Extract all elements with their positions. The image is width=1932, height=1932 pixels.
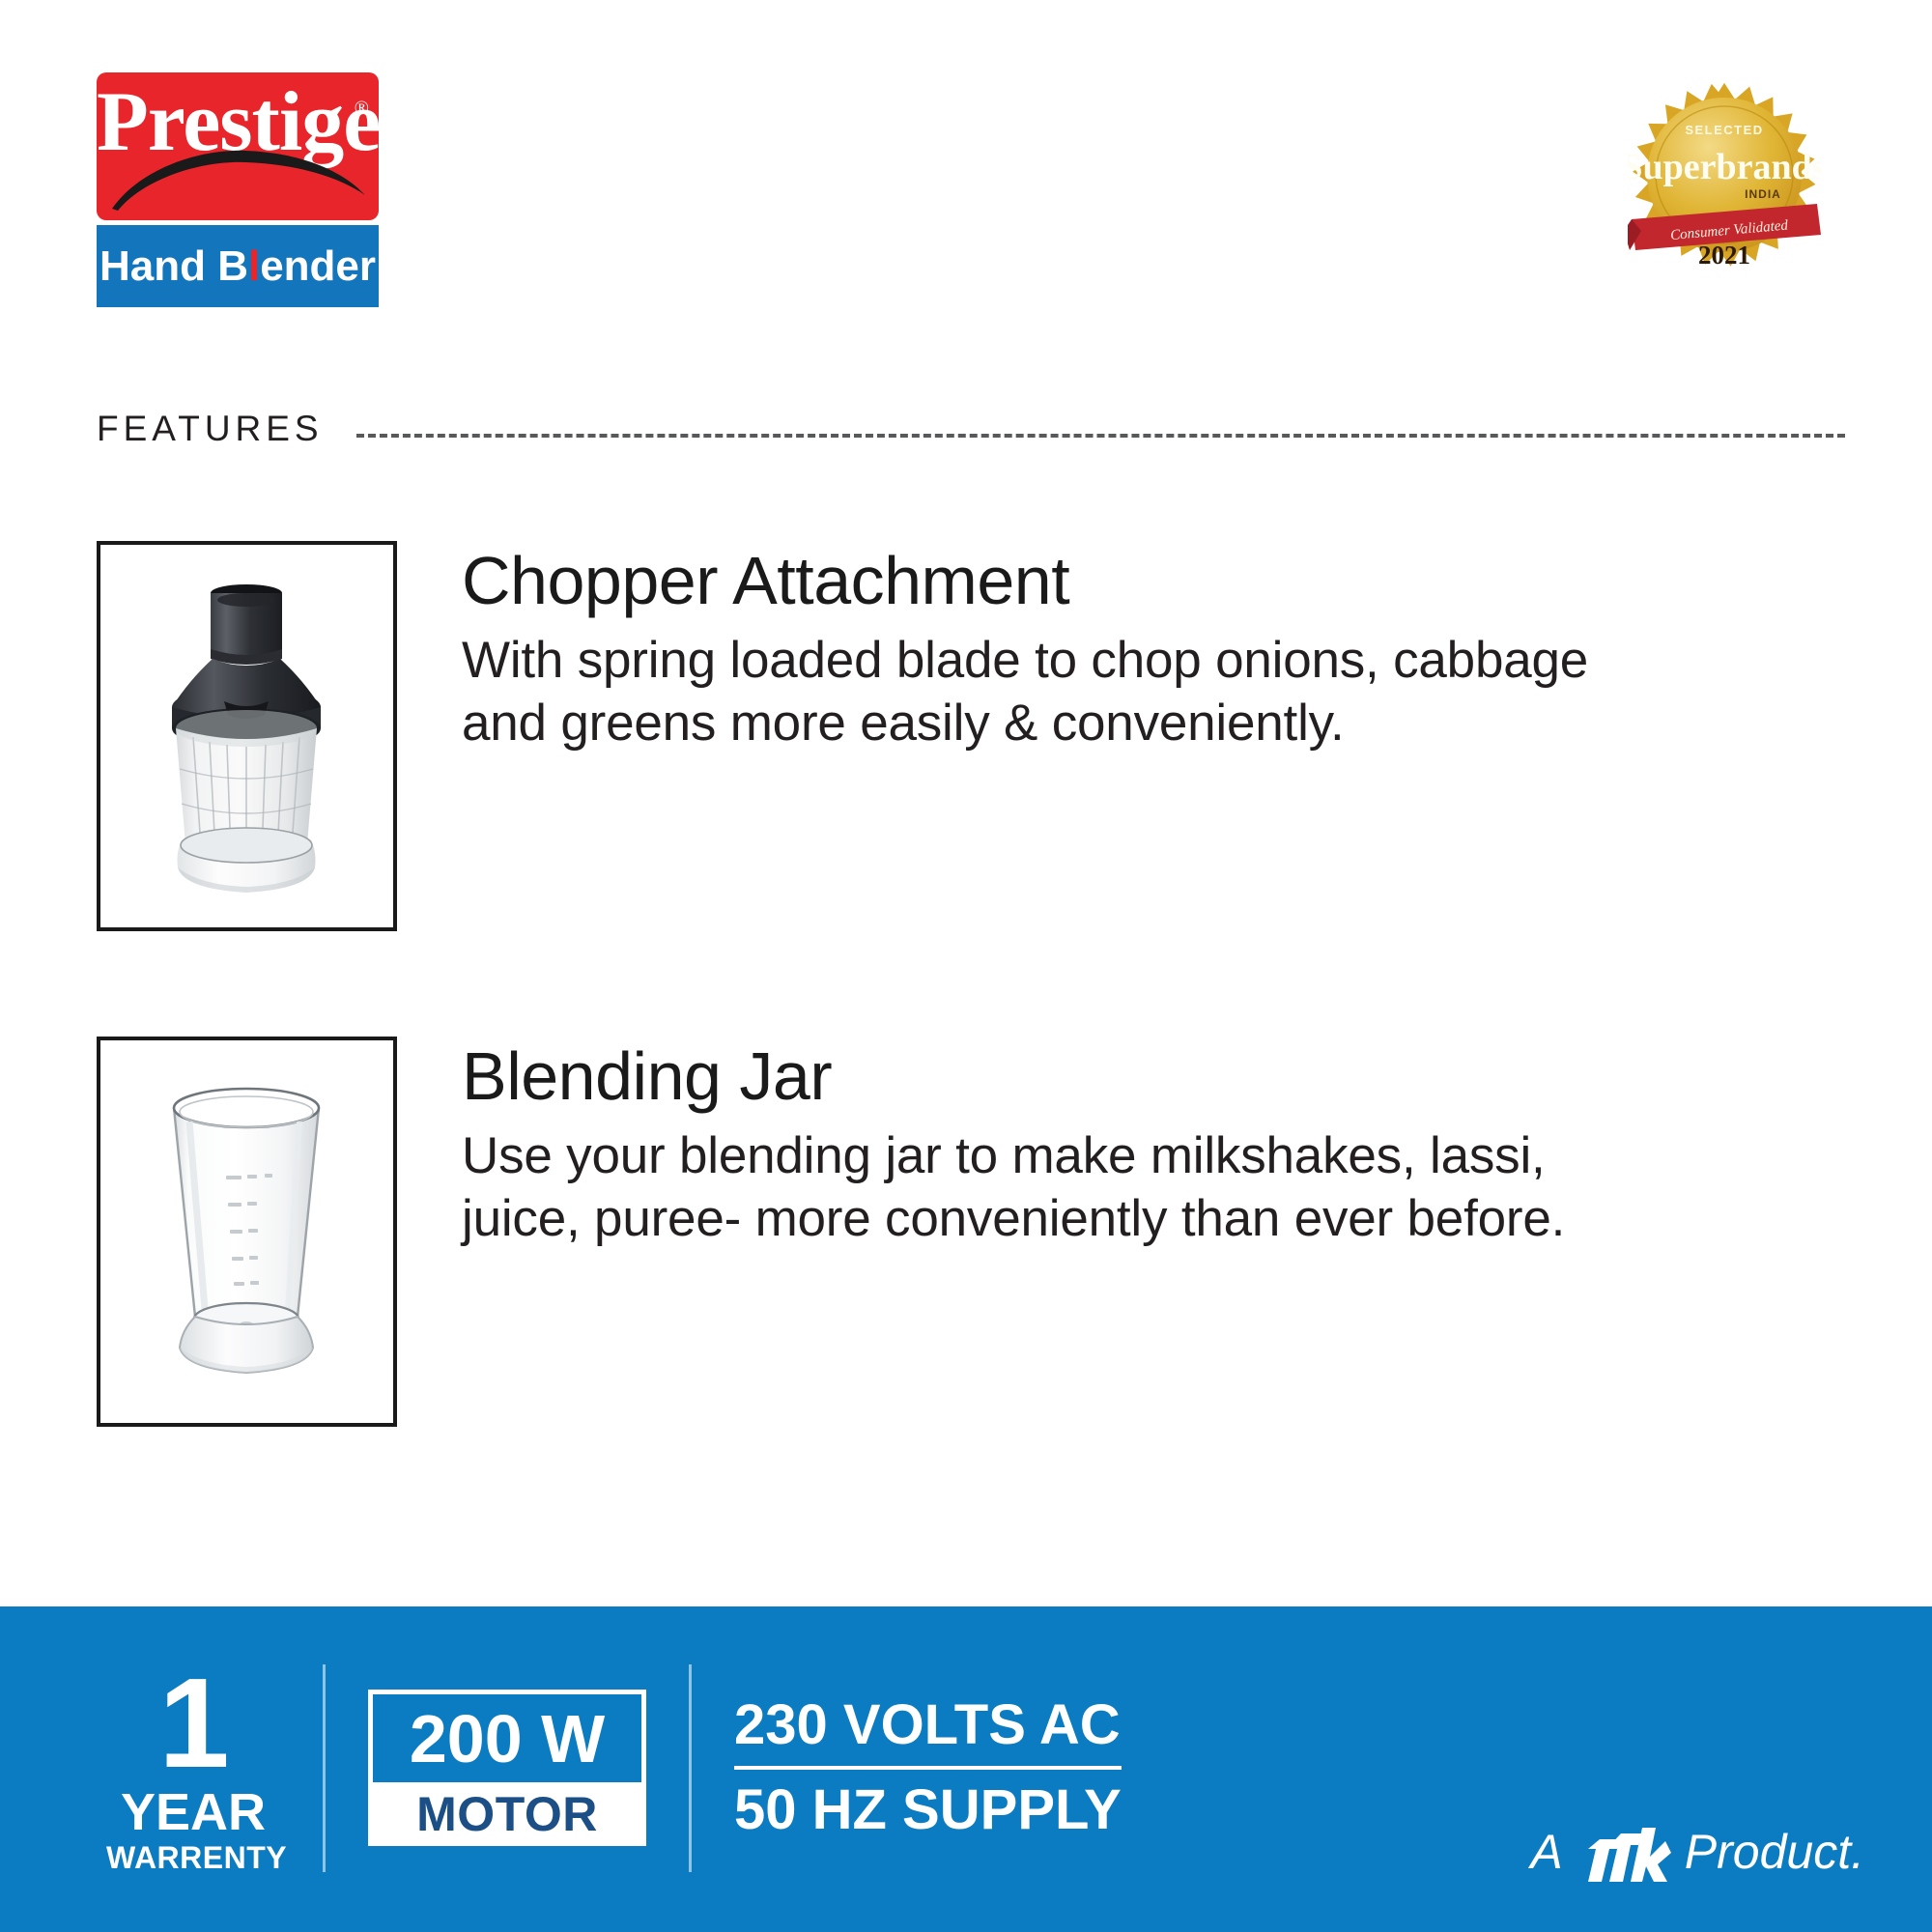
motor-label: MOTOR xyxy=(416,1786,598,1842)
feature-title: Chopper Attachment xyxy=(462,547,1669,614)
prestige-logo: Prestige ® Hand Blender xyxy=(97,72,379,307)
motor-power-box: 200 W xyxy=(368,1690,646,1782)
warranty-label: WARRENTY xyxy=(106,1842,280,1873)
spec-divider xyxy=(323,1664,326,1872)
motor-label-box: MOTOR xyxy=(368,1782,646,1846)
features-section-header: FEATURES xyxy=(97,404,1845,454)
svg-text:2021: 2021 xyxy=(1698,241,1750,270)
features-label: FEATURES xyxy=(97,409,324,449)
feature-item-chopper-attachment: Chopper Attachment With spring loaded bl… xyxy=(97,541,1835,931)
feature-title: Blending Jar xyxy=(462,1042,1669,1110)
chopper-attachment-photo xyxy=(97,541,397,931)
feature-description: With spring loaded blade to chop onions,… xyxy=(462,630,1669,754)
supply-voltage: 230 VOLTS AC xyxy=(734,1692,1122,1758)
spec-divider xyxy=(689,1664,692,1872)
product-line-box: Hand Blender xyxy=(97,225,379,307)
ttk-prefix: A xyxy=(1530,1824,1562,1880)
motor-power-value: 200 W xyxy=(410,1700,605,1777)
svg-text:Superbrands: Superbrands xyxy=(1628,147,1821,187)
svg-text:INDIA: INDIA xyxy=(1745,187,1781,201)
blending-jar-photo xyxy=(97,1037,397,1427)
product-line-label: Hand Blender xyxy=(99,242,376,291)
power-supply-spec: 230 VOLTS AC 50 HZ SUPPLY xyxy=(734,1692,1122,1844)
superbrands-badge: SELECTED Superbrands INDIA Consumer Vali… xyxy=(1628,82,1821,270)
product-feature-page: Prestige ® Hand Blender xyxy=(0,0,1932,1932)
feature-item-blending-jar: Blending Jar Use your blending jar to ma… xyxy=(97,1037,1835,1427)
warranty-number: 1 xyxy=(106,1662,280,1783)
features-divider xyxy=(356,434,1845,438)
feature-text-block: Blending Jar Use your blending jar to ma… xyxy=(462,1037,1669,1250)
motor-spec: 200 W MOTOR xyxy=(368,1690,646,1846)
supply-frequency: 50 HZ SUPPLY xyxy=(734,1777,1122,1843)
feature-text-block: Chopper Attachment With spring loaded bl… xyxy=(462,541,1669,754)
registered-trademark-icon: ® xyxy=(355,98,369,120)
prestige-brand-box: Prestige ® xyxy=(97,72,379,220)
ttk-logo-icon xyxy=(1578,1824,1671,1891)
specs-group: 1 YEAR WARRENTY 200 W MOTOR 230 VOLTS AC… xyxy=(106,1647,1122,1889)
warranty-spec: 1 YEAR WARRENTY xyxy=(106,1662,280,1872)
svg-text:SELECTED: SELECTED xyxy=(1685,123,1763,137)
ttk-product-mark: A Product. xyxy=(1530,1824,1864,1891)
swoosh-icon xyxy=(110,145,367,213)
supply-rule xyxy=(734,1766,1122,1770)
warranty-unit: YEAR xyxy=(106,1786,280,1838)
feature-description: Use your blending jar to make milkshakes… xyxy=(462,1125,1669,1250)
ttk-suffix: Product. xyxy=(1685,1824,1864,1880)
specs-footer-bar: 1 YEAR WARRENTY 200 W MOTOR 230 VOLTS AC… xyxy=(0,1606,1932,1932)
